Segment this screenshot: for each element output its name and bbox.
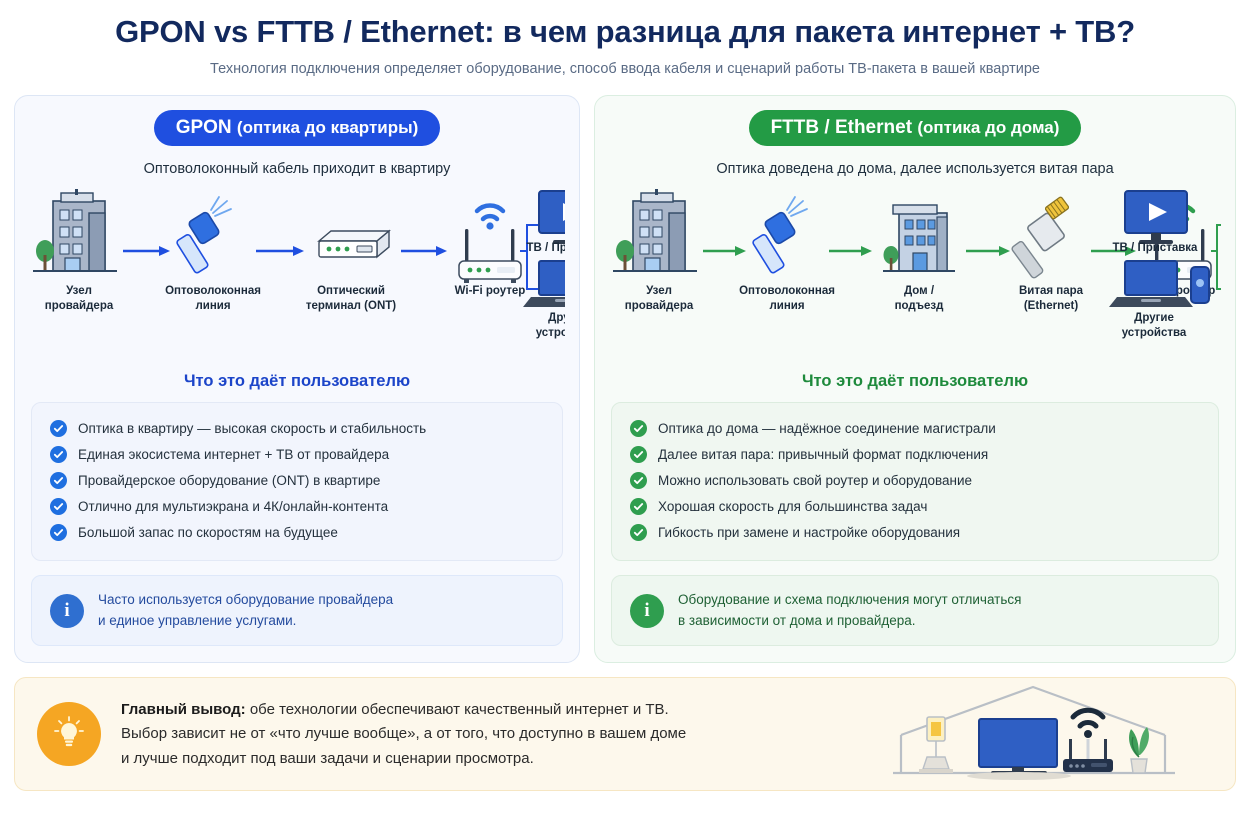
list-item: Оптика до дома — надёжное соединение маг…	[630, 416, 1200, 442]
panel-gpon-subtitle: Оптоволоконный кабель приходит в квартир…	[31, 161, 563, 177]
check-icon	[630, 420, 647, 437]
benefit-text: Гибкость при замене и настройке оборудов…	[658, 525, 960, 540]
benefit-text: Большой запас по скоростям на будущее	[78, 525, 338, 540]
tv-icon	[1125, 191, 1187, 244]
badge-main-label: GPON	[176, 117, 232, 138]
building-icon	[613, 189, 697, 271]
list-item: Единая экосистема интернет + ТВ от прова…	[50, 442, 544, 468]
benefit-text: Отлично для мультиэкрана и 4К/онлайн-кон…	[78, 499, 388, 514]
benefits-title-gpon: Что это даёт пользователю	[31, 372, 563, 391]
note-fttb: i Оборудование и схема подключения могут…	[611, 575, 1219, 647]
note-text: Оборудование и схема подключения могут о…	[678, 590, 1021, 632]
benefits-title-fttb: Что это даёт пользователю	[611, 372, 1219, 391]
endpoint-label: ТВ / Приставка	[527, 242, 565, 254]
endpoint-label: устройства	[536, 327, 565, 339]
node-label: Оптоволоконная	[739, 285, 835, 297]
check-icon	[50, 524, 67, 541]
fiber-cable-icon	[752, 197, 807, 274]
benefit-text: Можно использовать свой роутер и оборудо…	[658, 473, 972, 488]
node-label: провайдера	[625, 300, 694, 312]
plant-icon	[1129, 727, 1149, 773]
conclusion-box: Главный вывод: обе технологии обеспечива…	[14, 677, 1236, 791]
note-line-1: Часто используется оборудование провайде…	[98, 592, 393, 607]
benefit-text: Далее витая пара: привычный формат подкл…	[658, 447, 988, 462]
lightbulb-icon	[37, 702, 101, 766]
tv-icon	[967, 719, 1071, 780]
note-text: Часто используется оборудование провайде…	[98, 590, 393, 632]
diagram-gpon: Узел провайдера Оптоволоконная линия Опт…	[31, 189, 563, 366]
conclusion-line-2: Выбор зависит не от «что лучше вообще», …	[121, 725, 686, 742]
wifi-router-icon	[1063, 711, 1113, 773]
panel-fttb-badge: FTTB / Ethernet (оптика до дома)	[749, 110, 1082, 146]
badge-sub-label: (оптика до дома)	[917, 118, 1059, 137]
node-label: провайдера	[45, 300, 114, 312]
header: GPON vs FTTB / Ethernet: в чем разница д…	[0, 0, 1250, 77]
node-label: линия	[195, 300, 230, 312]
benefit-text: Единая экосистема интернет + ТВ от прова…	[78, 447, 389, 462]
list-item: Большой запас по скоростям на будущее	[50, 520, 544, 546]
list-item: Можно использовать свой роутер и оборудо…	[630, 468, 1200, 494]
page-title: GPON vs FTTB / Ethernet: в чем разница д…	[0, 14, 1250, 50]
check-icon	[50, 420, 67, 437]
list-item: Гибкость при замене и настройке оборудов…	[630, 520, 1200, 546]
laptop-phone-icon	[523, 261, 565, 307]
node-label: подъезд	[895, 300, 944, 312]
node-label: Оптический	[317, 285, 385, 297]
note-line-2: и единое управление услугами.	[98, 613, 296, 628]
fiber-cable-icon	[176, 197, 231, 274]
fttb-endpoints-svg: ТВ / Приставка Другие устройства	[1067, 189, 1227, 361]
conclusion-line-1: обе технологии обеспечивают качественный…	[246, 701, 669, 718]
home-scene-illustration	[883, 677, 1213, 791]
panel-fttb-subtitle: Оптика доведена до дома, далее используе…	[611, 161, 1219, 177]
info-icon: i	[50, 594, 84, 628]
panel-gpon-badge: GPON (оптика до квартиры)	[154, 110, 441, 146]
benefit-text: Оптика до дома — надёжное соединение маг…	[658, 421, 996, 436]
house-building-icon	[883, 205, 955, 271]
diagram-fttb: Узел провайдера Оптоволоконная линия Дом…	[611, 189, 1219, 366]
lamp-icon	[919, 717, 953, 773]
endpoint-label: Другие	[548, 312, 565, 324]
check-icon	[630, 472, 647, 489]
infographic-page: GPON vs FTTB / Ethernet: в чем разница д…	[0, 0, 1250, 833]
note-line-2: в зависимости от дома и провайдера.	[678, 613, 916, 628]
badge-sub-label: (оптика до квартиры)	[237, 118, 418, 137]
tv-icon	[539, 191, 565, 244]
endpoint-label: ТВ / Приставка	[1113, 242, 1199, 254]
node-label: терминал (ONT)	[306, 300, 396, 312]
list-item: Отлично для мультиэкрана и 4К/онлайн-кон…	[50, 494, 544, 520]
check-icon	[50, 498, 67, 515]
wifi-router-icon	[459, 205, 521, 283]
page-subtitle: Технология подключения определяет оборуд…	[0, 61, 1250, 77]
node-label: линия	[769, 300, 804, 312]
laptop-phone-icon	[1109, 261, 1209, 307]
node-label: Узел	[66, 285, 92, 297]
conclusion-lead: Главный вывод:	[121, 701, 246, 718]
gpon-flow-svg: Узел провайдера Оптоволоконная линия Опт…	[31, 189, 565, 361]
ont-box-icon	[319, 231, 389, 257]
check-icon	[630, 446, 647, 463]
benefit-text: Оптика в квартиру — высокая скорость и с…	[78, 421, 426, 436]
list-item: Далее витая пара: привычный формат подкл…	[630, 442, 1200, 468]
rj45-cable-icon	[1011, 196, 1069, 278]
benefit-text: Провайдерское оборудование (ONT) в кварт…	[78, 473, 380, 488]
endpoint-label: устройства	[1122, 327, 1187, 339]
note-line-1: Оборудование и схема подключения могут о…	[678, 592, 1021, 607]
list-item: Провайдерское оборудование (ONT) в кварт…	[50, 468, 544, 494]
note-gpon: i Часто используется оборудование провай…	[31, 575, 563, 647]
badge-main-label: FTTB / Ethernet	[771, 117, 912, 138]
check-icon	[630, 524, 647, 541]
benefits-list-fttb: Оптика до дома — надёжное соединение маг…	[611, 402, 1219, 561]
node-label: Узел	[646, 285, 672, 297]
info-icon: i	[630, 594, 664, 628]
conclusion-line-3: и лучше подходит под ваши задачи и сцена…	[121, 750, 534, 767]
node-label: Wi-Fi роутер	[455, 285, 526, 297]
benefit-text: Хорошая скорость для большинства задач	[658, 499, 927, 514]
panel-gpon: GPON (оптика до квартиры) Оптоволоконный…	[14, 95, 580, 664]
node-label: Дом /	[904, 285, 935, 297]
list-item: Оптика в квартиру — высокая скорость и с…	[50, 416, 544, 442]
node-label: Оптоволоконная	[165, 285, 261, 297]
check-icon	[630, 498, 647, 515]
benefits-list-gpon: Оптика в квартиру — высокая скорость и с…	[31, 402, 563, 561]
panel-fttb: FTTB / Ethernet (оптика до дома) Оптика …	[594, 95, 1236, 664]
comparison-panels: GPON (оптика до квартиры) Оптоволоконный…	[0, 95, 1250, 664]
endpoint-label: Другие	[1134, 312, 1174, 324]
check-icon	[50, 446, 67, 463]
list-item: Хорошая скорость для большинства задач	[630, 494, 1200, 520]
building-icon	[33, 189, 117, 271]
check-icon	[50, 472, 67, 489]
conclusion-text: Главный вывод: обе технологии обеспечива…	[121, 698, 863, 771]
